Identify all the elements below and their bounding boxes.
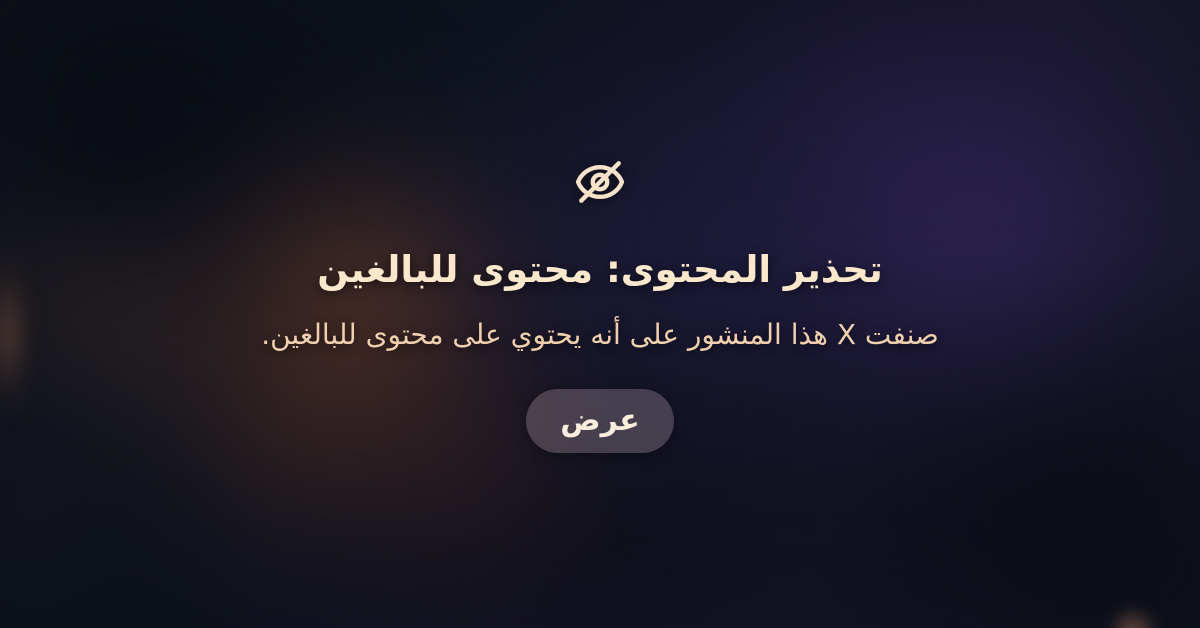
warning-content: تحذير المحتوى: محتوى للبالغين صنفت X هذا…	[0, 0, 1200, 628]
eye-off-icon	[569, 151, 631, 213]
view-button[interactable]: عرض	[526, 389, 674, 453]
warning-description: صنفت X هذا المنشور على أنه يحتوي على محت…	[261, 315, 939, 356]
sensitive-content-warning-card: تحذير المحتوى: محتوى للبالغين صنفت X هذا…	[0, 0, 1200, 628]
page-title: تحذير المحتوى: محتوى للبالغين	[317, 247, 883, 293]
